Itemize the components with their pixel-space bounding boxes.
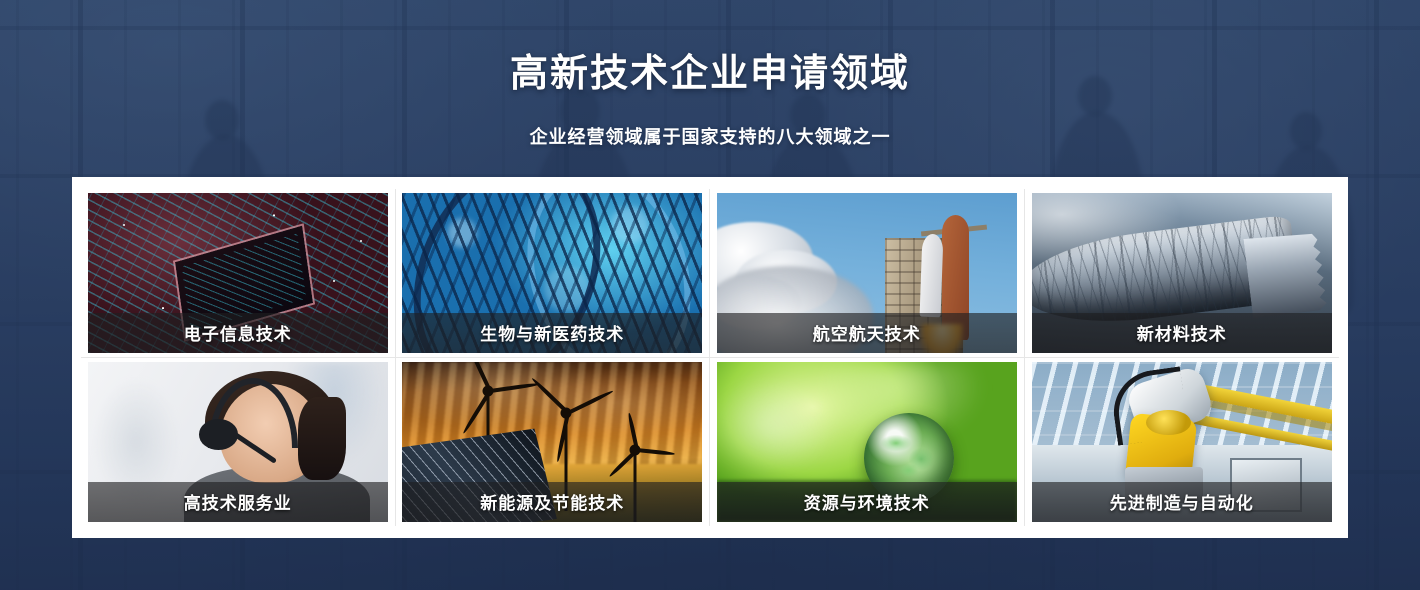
card-aerospace[interactable]: 航空航天技术 xyxy=(717,193,1017,353)
grid-cell: 电子信息技术 xyxy=(81,189,396,358)
card-high-tech-services[interactable]: 高技术服务业 xyxy=(88,362,388,522)
card-resources-environment[interactable]: 资源与环境技术 xyxy=(717,362,1017,522)
card-label: 资源与环境技术 xyxy=(717,482,1017,522)
page-header: 高新技术企业申请领域 企业经营领域属于国家支持的八大领域之一 xyxy=(0,52,1420,149)
card-electronic-information[interactable]: 电子信息技术 xyxy=(88,193,388,353)
grid-cell: 资源与环境技术 xyxy=(710,358,1025,527)
grid-cell: 生物与新医药技术 xyxy=(396,189,711,358)
card-label: 高技术服务业 xyxy=(88,482,388,522)
page-title: 高新技术企业申请领域 xyxy=(0,52,1420,97)
grid-cell: 新材料技术 xyxy=(1025,189,1340,358)
card-advanced-manufacturing[interactable]: 先进制造与自动化 xyxy=(1032,362,1332,522)
card-bio-medicine[interactable]: 生物与新医药技术 xyxy=(402,193,702,353)
card-label: 新能源及节能技术 xyxy=(402,482,702,522)
card-label: 航空航天技术 xyxy=(717,313,1017,353)
card-new-energy[interactable]: 新能源及节能技术 xyxy=(402,362,702,522)
cards-grid: 电子信息技术 生物与新医药技术 xyxy=(81,189,1339,526)
grid-cell: 先进制造与自动化 xyxy=(1025,358,1340,527)
card-label: 先进制造与自动化 xyxy=(1032,482,1332,522)
card-label: 电子信息技术 xyxy=(88,313,388,353)
grid-cell: 航空航天技术 xyxy=(710,189,1025,358)
card-label: 生物与新医药技术 xyxy=(402,313,702,353)
page-root: 高新技术企业申请领域 企业经营领域属于国家支持的八大领域之一 电子信息技术 xyxy=(0,0,1420,590)
card-new-materials[interactable]: 新材料技术 xyxy=(1032,193,1332,353)
card-label: 新材料技术 xyxy=(1032,313,1332,353)
grid-cell: 新能源及节能技术 xyxy=(396,358,711,527)
page-subtitle: 企业经营领域属于国家支持的八大领域之一 xyxy=(0,123,1420,149)
grid-cell: 高技术服务业 xyxy=(81,358,396,527)
cards-panel: 电子信息技术 生物与新医药技术 xyxy=(72,177,1348,538)
